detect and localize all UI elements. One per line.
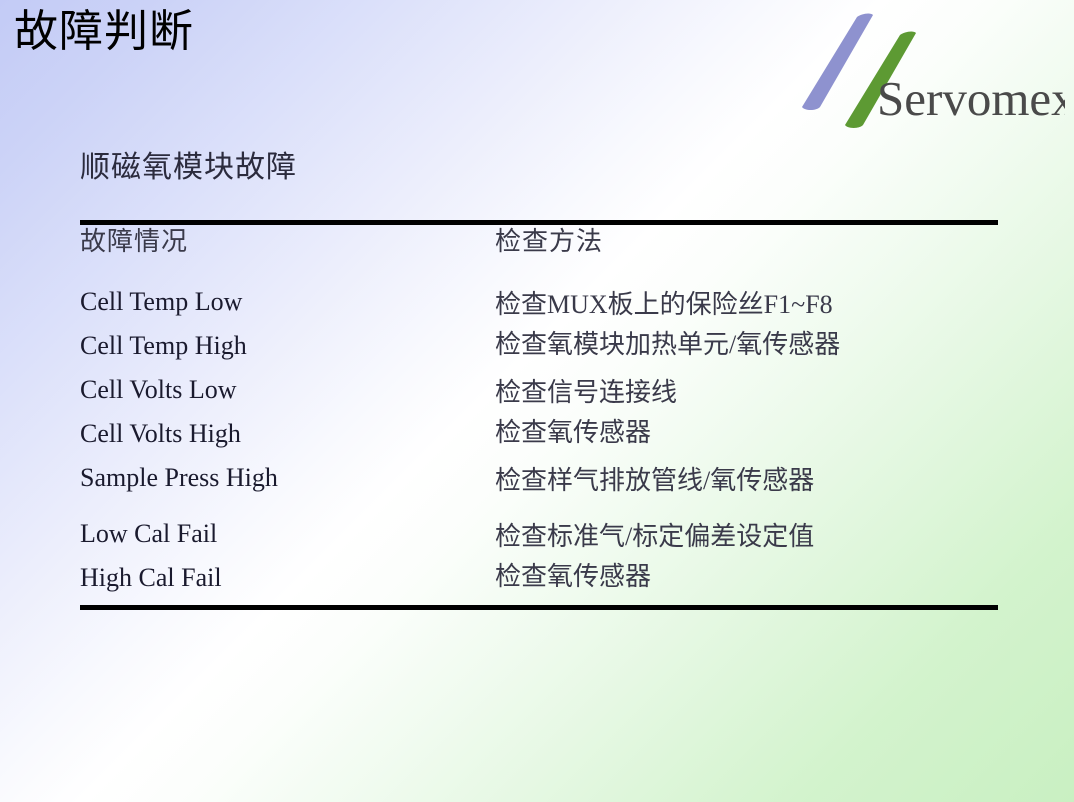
check-cell: 检查标准气/标定偏差设定值 检查氧传感器 <box>495 517 998 605</box>
fault-cell: Cell Volts Low <box>80 373 495 417</box>
header-label-check: 检查方法 <box>495 227 603 256</box>
check-line: 检查标准气/标定偏差设定值 <box>495 517 998 557</box>
logo-wordmark: Servomex <box>877 71 1065 126</box>
check-cell: 检查样气排放管线/氧传感器 <box>495 461 998 517</box>
check-line: 检查氧模块加热单元/氧传感器 <box>495 325 998 365</box>
table-row: Low Cal Fail 检查标准气/标定偏差设定值 检查氧传感器 <box>80 517 998 561</box>
page-title: 故障判断 <box>14 6 194 58</box>
header-label-fault: 故障情况 <box>80 227 188 256</box>
check-line: 检查信号连接线 <box>495 373 998 413</box>
header-cell-fault: 故障情况 <box>80 225 495 285</box>
check-line: 检查MUX板上的保险丝F1~F8 <box>495 285 998 325</box>
table-row: Cell Volts Low 检查信号连接线 检查氧传感器 <box>80 373 998 417</box>
logo-purple-stroke <box>802 14 873 110</box>
check-line: 检查氧传感器 <box>495 557 998 597</box>
fault-label: High Cal Fail <box>80 563 222 592</box>
fault-cell: Cell Volts High <box>80 417 495 461</box>
fault-label: Cell Volts Low <box>80 375 237 404</box>
table-row: Cell Temp Low 检查MUX板上的保险丝F1~F8 检查氧模块加热单元… <box>80 285 998 329</box>
fault-label: Sample Press High <box>80 463 278 492</box>
fault-cell: Low Cal Fail <box>80 517 495 561</box>
fault-label: Cell Volts High <box>80 419 241 448</box>
header-cell-check: 检查方法 <box>495 225 998 285</box>
check-cell: 检查信号连接线 检查氧传感器 <box>495 373 998 461</box>
fault-table-container: 故障情况 检查方法 Cell Temp Low 检查MUX板上的保险丝F1~F8… <box>80 220 998 610</box>
servomex-logo: Servomex <box>795 12 1065 130</box>
table-header-row: 故障情况 检查方法 <box>80 225 998 285</box>
table-row: Sample Press High 检查样气排放管线/氧传感器 <box>80 461 998 517</box>
fault-label: Low Cal Fail <box>80 519 217 548</box>
check-line: 检查氧传感器 <box>495 413 998 453</box>
fault-cell: High Cal Fail <box>80 561 495 605</box>
fault-cell: Cell Temp Low <box>80 285 495 329</box>
fault-label: Cell Temp High <box>80 331 247 360</box>
fault-table: 故障情况 检查方法 Cell Temp Low 检查MUX板上的保险丝F1~F8… <box>80 225 998 605</box>
fault-cell: Cell Temp High <box>80 329 495 373</box>
section-subtitle: 顺磁氧模块故障 <box>80 142 297 186</box>
check-line: 检查样气排放管线/氧传感器 <box>495 461 998 501</box>
slide-canvas: 故障判断 Servomex 顺磁氧模块故障 <box>0 0 1074 802</box>
fault-cell: Sample Press High <box>80 461 495 517</box>
check-cell: 检查MUX板上的保险丝F1~F8 检查氧模块加热单元/氧传感器 <box>495 285 998 373</box>
fault-label: Cell Temp Low <box>80 287 242 316</box>
